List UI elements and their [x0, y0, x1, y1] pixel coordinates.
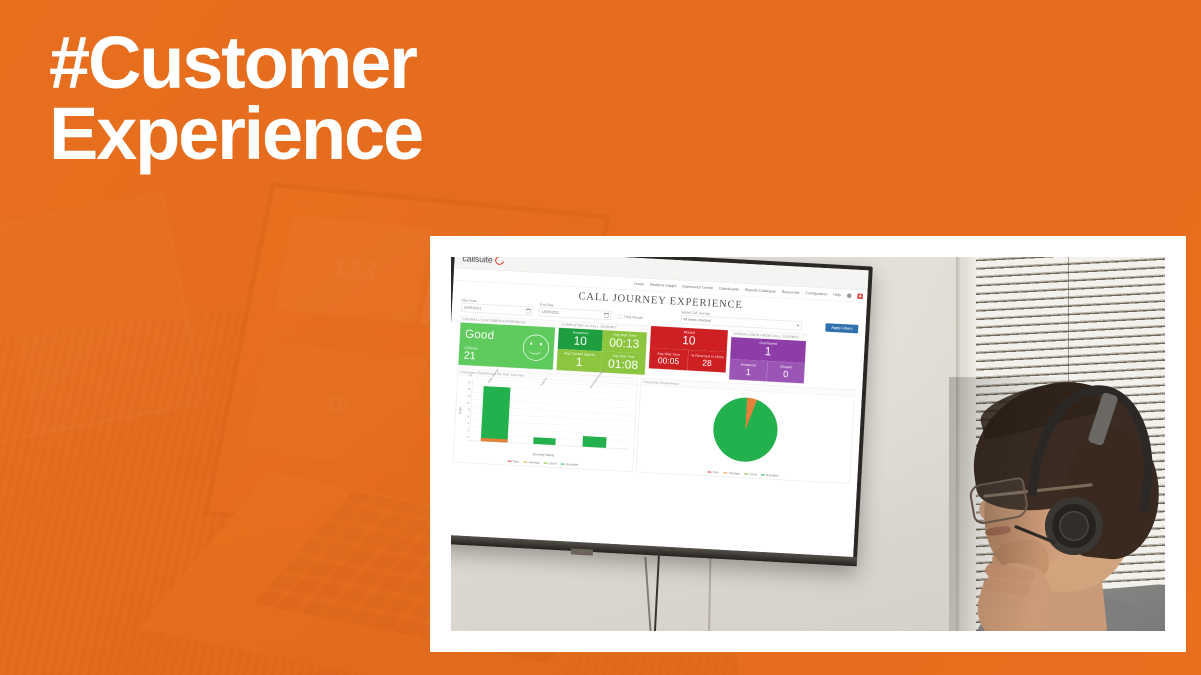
legend-item-average: Average: [723, 471, 740, 475]
legend-swatch: [508, 460, 512, 461]
logo-ring-icon: [493, 257, 505, 266]
select-journey-value: All Items checked: [683, 318, 711, 323]
smiley-face-icon: [522, 334, 549, 361]
nav-item-dashboards[interactable]: Dashboards: [719, 286, 739, 291]
missed-value: 10: [682, 334, 696, 347]
bar-chart-ylabel: Calls: [458, 407, 462, 414]
legend-item-poor: Poor: [507, 459, 519, 463]
legend-swatch: [708, 471, 712, 472]
page-title: #Customer Experience: [49, 27, 669, 169]
tile-value: 28: [702, 358, 712, 367]
tile-value: 01:08: [608, 358, 639, 372]
missed-label: Missed: [682, 331, 696, 335]
legend-label: Average: [729, 471, 740, 475]
bar-chart-panel: Customer Experience By Call Journey Call…: [453, 368, 638, 472]
overflowed-tile-missed: Missed 0: [766, 361, 804, 383]
legend-label: Good: [749, 472, 757, 476]
apply-filters-button[interactable]: Apply Filters: [825, 323, 858, 333]
pie-chart-body: Poor Average Good Excellent: [636, 385, 854, 483]
calendar-icon[interactable]: [604, 313, 609, 318]
legend-swatch: [523, 461, 527, 462]
wall-mounted-display: callsuite Home Realtime Insight Experien…: [451, 257, 873, 566]
bar-chart-body: Calls 0 2 4 6 8 10 12 14: [453, 375, 637, 471]
pie-chart-plot: [637, 390, 854, 469]
completed-tile-avg-current-agents: Avg Current Agents 1: [557, 349, 602, 373]
nav-item-realtime-insight[interactable]: Realtime Insight: [650, 283, 677, 289]
tile-value: 10: [573, 335, 587, 348]
missed-panel: Missed 10 Avg Wait Time 00:05 % Returned…: [648, 326, 728, 373]
display-mount: [571, 548, 593, 555]
nav-item-home[interactable]: Home: [634, 282, 644, 287]
poster-canvas: CALL SUMMARY 133 40 22 24 CALL DISTRIBUT…: [0, 0, 1201, 675]
overflowed-value: 1: [764, 345, 771, 358]
completed-tile-answered: Answered 10: [558, 328, 603, 352]
missed-sub-tiles: Avg Wait Time 00:05 % Returned in 24hrs …: [649, 348, 727, 373]
overall-experience-body: Good CXScore 21: [458, 322, 555, 369]
chevron-down-icon[interactable]: [797, 325, 800, 327]
bar-sales-journey: [481, 386, 511, 442]
end-date-group: End Date 18/05/2021: [539, 303, 612, 320]
display-screen: callsuite Home Realtime Insight Experien…: [451, 257, 869, 557]
callsuite-logo[interactable]: callsuite: [462, 257, 504, 266]
support-plus-icon[interactable]: [857, 293, 863, 299]
checkbox-icon[interactable]: [617, 314, 622, 319]
missed-tile-returned-24hrs: % Returned in 24hrs 28: [687, 350, 726, 372]
time-range-label: Time Range: [624, 315, 643, 320]
pie-chart: [712, 396, 780, 464]
legend-label: Excellent: [566, 462, 578, 466]
legend-item-good: Good: [744, 472, 757, 476]
agent-shading: [949, 377, 1165, 631]
overall-experience-panel: OVERALL CUSTOMER EXPERIENCE Good CXScore…: [458, 315, 556, 370]
tile-label: Missed: [779, 365, 793, 369]
dashboard-app: callsuite Home Realtime Insight Experien…: [451, 257, 869, 557]
legend-item-average: Average: [523, 460, 540, 464]
legend-item-good: Good: [544, 461, 557, 465]
nav-item-reports-catalogue[interactable]: Reports Catalogue: [745, 288, 776, 294]
legend-swatch: [744, 473, 748, 474]
start-date-group: Start Date 18/05/2021: [461, 298, 534, 315]
calendar-icon[interactable]: [526, 309, 531, 314]
pie-chart-panel: Customer Experience Poor Average Good Ex…: [636, 378, 855, 484]
smiley-mouth: [528, 345, 542, 355]
legend-label: Poor: [513, 459, 520, 463]
tile-value: 00:05: [658, 356, 680, 366]
bar-segment-poor: [481, 438, 508, 443]
overflowed-sub-tiles: Answered 1 Missed 0: [729, 359, 805, 383]
legend-label: Good: [549, 461, 557, 465]
user-avatar-icon[interactable]: [847, 293, 852, 298]
legend-swatch: [561, 463, 565, 464]
legend-swatch: [761, 474, 765, 475]
time-range-checkbox[interactable]: Time Range: [617, 314, 643, 321]
nav-item-resources[interactable]: Resources: [782, 290, 800, 295]
bar-support: [533, 437, 556, 445]
nav-item-help[interactable]: Help: [833, 293, 841, 298]
overall-rating: Good: [465, 327, 524, 344]
tile-value: 1: [745, 367, 751, 377]
legend-swatch: [544, 462, 548, 463]
overflowed-label: Overflowed: [758, 341, 778, 346]
bar-chart-plot: 0 2 4 6 8 10 12 14 16 18: [469, 379, 632, 450]
overflowed-tile-answered: Answered 1: [729, 359, 767, 381]
nav-item-experience-centre[interactable]: Experience Centre: [682, 284, 713, 290]
completed-tile-avg-talk-time: Avg Talk Time 01:08: [601, 351, 646, 375]
agent-portrait: [949, 377, 1165, 631]
legend-label: Poor: [713, 470, 720, 474]
legend-item-excellent: Excellent: [761, 473, 779, 477]
overflowed-panel: OVERFLOWED FROM CALL JOURNEY Overflowed …: [729, 330, 807, 384]
legend-label: Excellent: [766, 473, 778, 477]
completed-tile-avg-wait-time: Avg Wait Time 00:13: [602, 330, 647, 354]
tile-value: 1: [575, 356, 582, 369]
end-date-value: 18/05/2021: [542, 310, 560, 315]
legend-label: Average: [529, 460, 540, 464]
legend-item-poor: Poor: [708, 470, 720, 474]
tile-value: 0: [783, 369, 789, 379]
photo-inner: callsuite Home Realtime Insight Experien…: [451, 257, 1165, 631]
start-date-value: 18/05/2021: [464, 306, 482, 311]
tile-value: 00:13: [609, 337, 640, 351]
legend-swatch: [723, 472, 727, 473]
tile-label: Answered: [740, 363, 758, 368]
nav-item-configuration[interactable]: Configuration: [805, 291, 827, 296]
legend-item-excellent: Excellent: [561, 462, 579, 466]
missed-tile-avg-wait-time: Avg Wait Time 00:05: [649, 348, 688, 370]
bar-technical-escalation: [582, 436, 606, 448]
logo-text: callsuite: [462, 257, 493, 265]
overall-experience-text: Good CXScore 21: [464, 327, 524, 364]
pie-chart-legend: Poor Average Good Excellent: [636, 466, 850, 481]
